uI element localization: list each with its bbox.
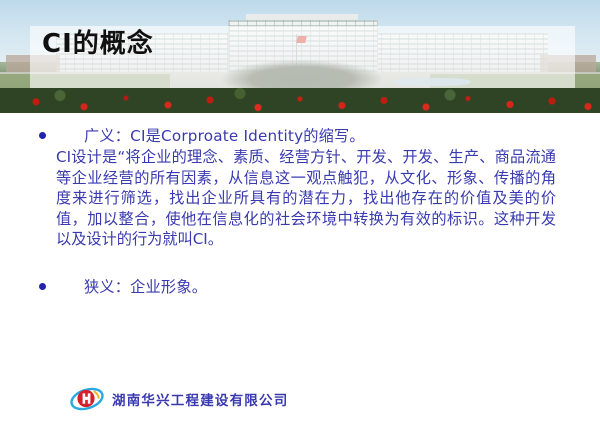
bullet-body-text: CI设计是“将企业的理念、素质、经营方针、开发、开发、生产、商品流通等企业经营的…: [56, 147, 556, 250]
bullet-item-narrow-definition: 狭义：企业形象。: [56, 277, 556, 298]
building-right-wing: [372, 33, 548, 75]
bullet-lead-text: 广义：CI是Corproate Identity的缩写。: [84, 127, 365, 145]
bullet-lead-text: 狭义：企业形象。: [84, 278, 207, 296]
bullet-item-broad-definition: 广义：CI是Corproate Identity的缩写。: [56, 126, 556, 147]
company-name: 湖南华兴工程建设有限公司: [112, 389, 288, 409]
page-title: CI的概念: [42, 31, 154, 57]
red-flag-icon: [296, 36, 306, 43]
footer-branding: 湖南华兴工程建设有限公司: [70, 384, 288, 414]
flower-bed: [0, 88, 600, 113]
water-pool: [395, 78, 470, 86]
window-texture: [372, 33, 548, 75]
bullet-dot-icon: [39, 283, 46, 290]
bullet-dot-icon: [39, 132, 46, 139]
company-logo-icon: [70, 385, 104, 413]
